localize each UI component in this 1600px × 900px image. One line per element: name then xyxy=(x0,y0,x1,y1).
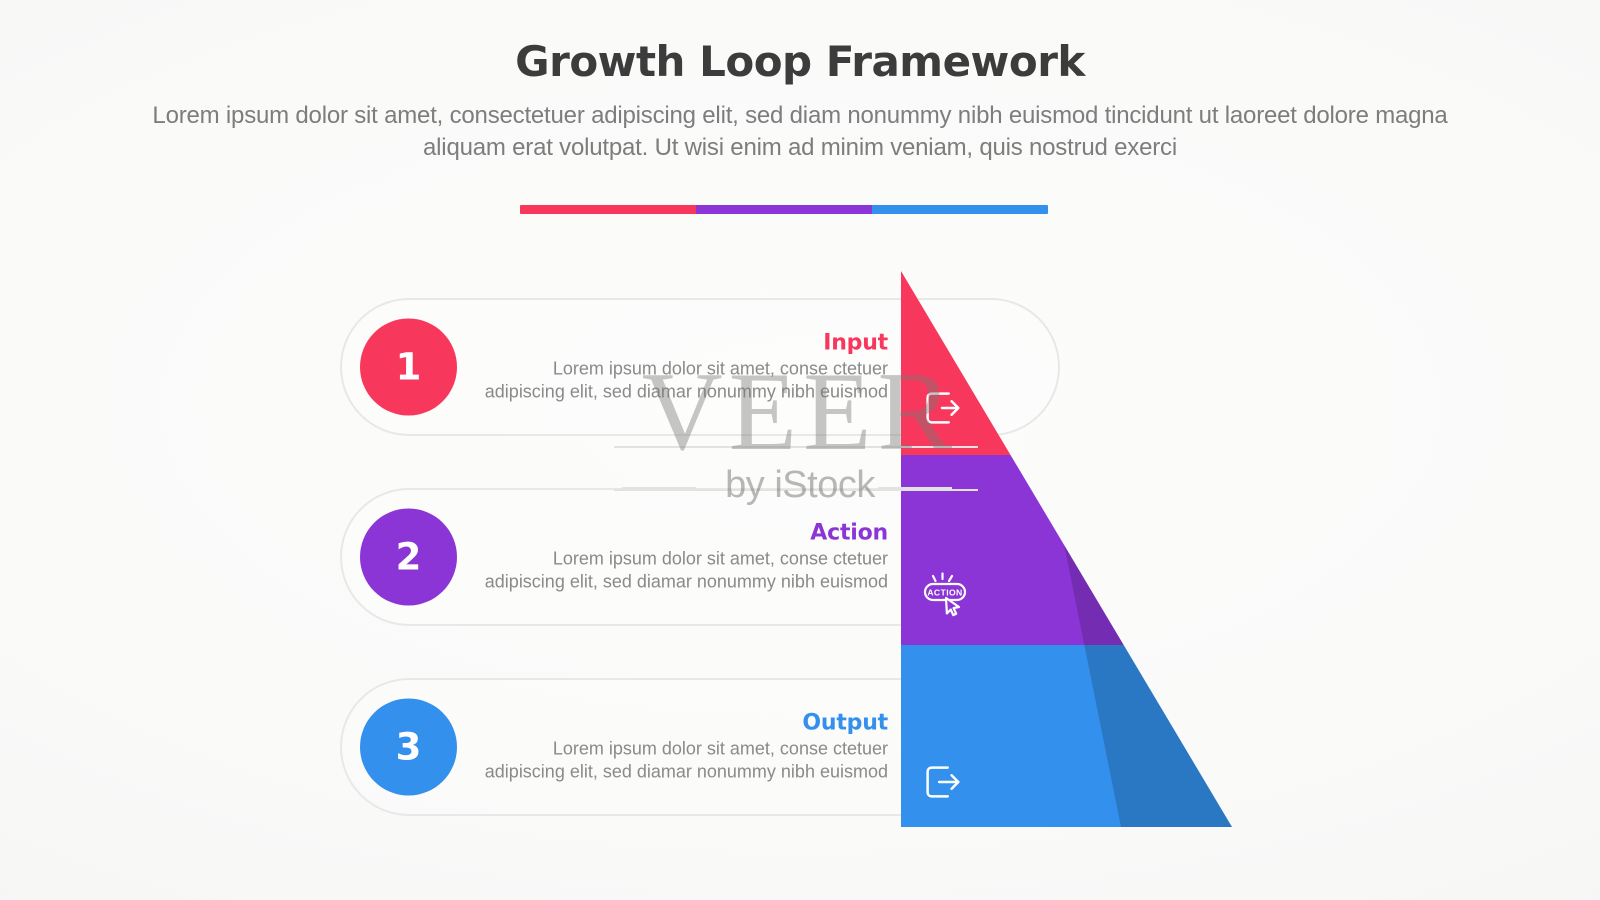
login-arrow-into-box-icon xyxy=(919,385,965,431)
step-number-badge: 3 xyxy=(360,699,457,796)
funnel-icon-action-wrapper: ACTION xyxy=(919,567,971,619)
step-description: Lorem ipsum dolor sit amet, conse ctetue… xyxy=(468,357,888,403)
step-description: Lorem ipsum dolor sit amet, conse ctetue… xyxy=(468,737,888,783)
step-number-badge: 1 xyxy=(360,319,457,416)
funnel-icon-input-wrapper xyxy=(919,385,965,431)
divider-segment-purple xyxy=(696,205,872,214)
step-number-badge: 2 xyxy=(360,509,457,606)
action-icon-label: ACTION xyxy=(927,588,962,598)
funnel-diagram: ACTION xyxy=(901,271,1241,827)
action-button-cursor-icon: ACTION xyxy=(919,567,971,619)
page-title: Growth Loop Framework xyxy=(0,38,1600,86)
step-heading: Output xyxy=(468,710,888,735)
step-text-block: Output Lorem ipsum dolor sit amet, conse… xyxy=(468,710,888,783)
step-number: 3 xyxy=(396,729,422,766)
step-description: Lorem ipsum dolor sit amet, conse ctetue… xyxy=(468,547,888,593)
step-number: 1 xyxy=(396,349,422,386)
funnel-icon-output-wrapper xyxy=(919,759,965,805)
logout-arrow-out-of-box-icon xyxy=(919,759,965,805)
divider-segment-blue xyxy=(872,205,1048,214)
funnel-shape xyxy=(901,271,1241,827)
page-subtitle: Lorem ipsum dolor sit amet, consectetuer… xyxy=(120,100,1480,163)
step-heading: Input xyxy=(468,330,888,355)
divider-segment-red xyxy=(520,205,696,214)
header: Growth Loop Framework Lorem ipsum dolor … xyxy=(0,0,1600,164)
step-text-block: Action Lorem ipsum dolor sit amet, conse… xyxy=(468,520,888,593)
tricolor-divider xyxy=(520,205,1048,214)
step-text-block: Input Lorem ipsum dolor sit amet, conse … xyxy=(468,330,888,403)
step-number: 2 xyxy=(396,539,422,576)
step-heading: Action xyxy=(468,520,888,545)
